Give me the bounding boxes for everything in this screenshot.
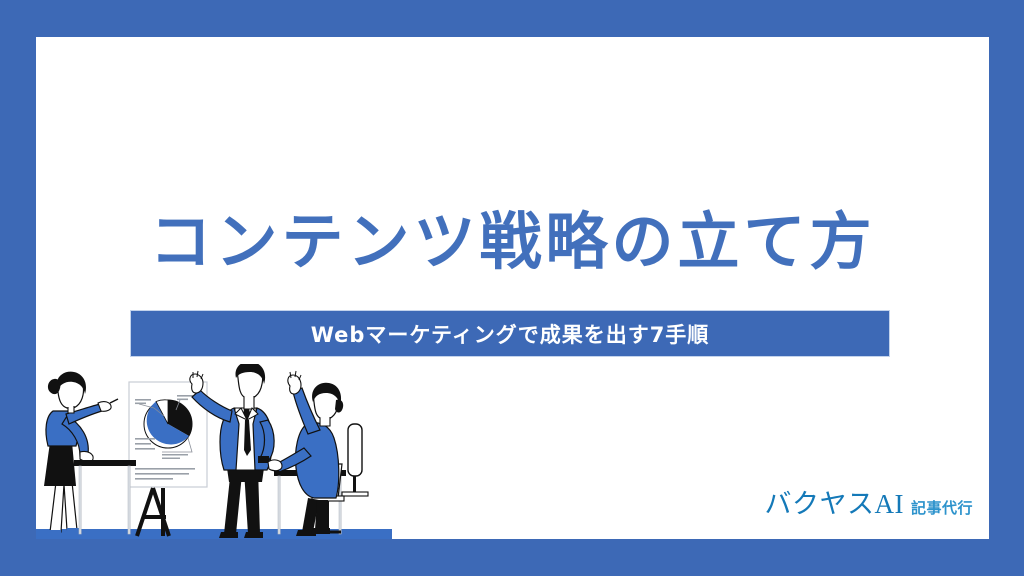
logo: バクヤスAI 記事代行 bbox=[764, 482, 973, 521]
slide-frame: コンテンツ戦略の立て方 Webマーケティングで成果を出す7手順 バクヤスAI 記… bbox=[0, 0, 1024, 576]
subtitle-text: Webマーケティングで成果を出す7手順 bbox=[311, 319, 710, 349]
logo-service-text: 記事代行 bbox=[911, 497, 973, 518]
logo-brand-text: バクヤスAI bbox=[764, 482, 904, 521]
flipchart-easel bbox=[129, 382, 207, 536]
title-block: コンテンツ戦略の立て方 bbox=[36, 205, 989, 278]
monitor bbox=[342, 424, 368, 496]
business-team-illustration bbox=[36, 364, 392, 539]
table-left bbox=[74, 460, 136, 534]
slide-content-area: コンテンツ戦略の立て方 Webマーケティングで成果を出す7手順 バクヤスAI 記… bbox=[36, 37, 989, 539]
subtitle-bar: Webマーケティングで成果を出す7手順 bbox=[130, 310, 890, 357]
page-title: コンテンツ戦略の立て方 bbox=[36, 205, 989, 278]
